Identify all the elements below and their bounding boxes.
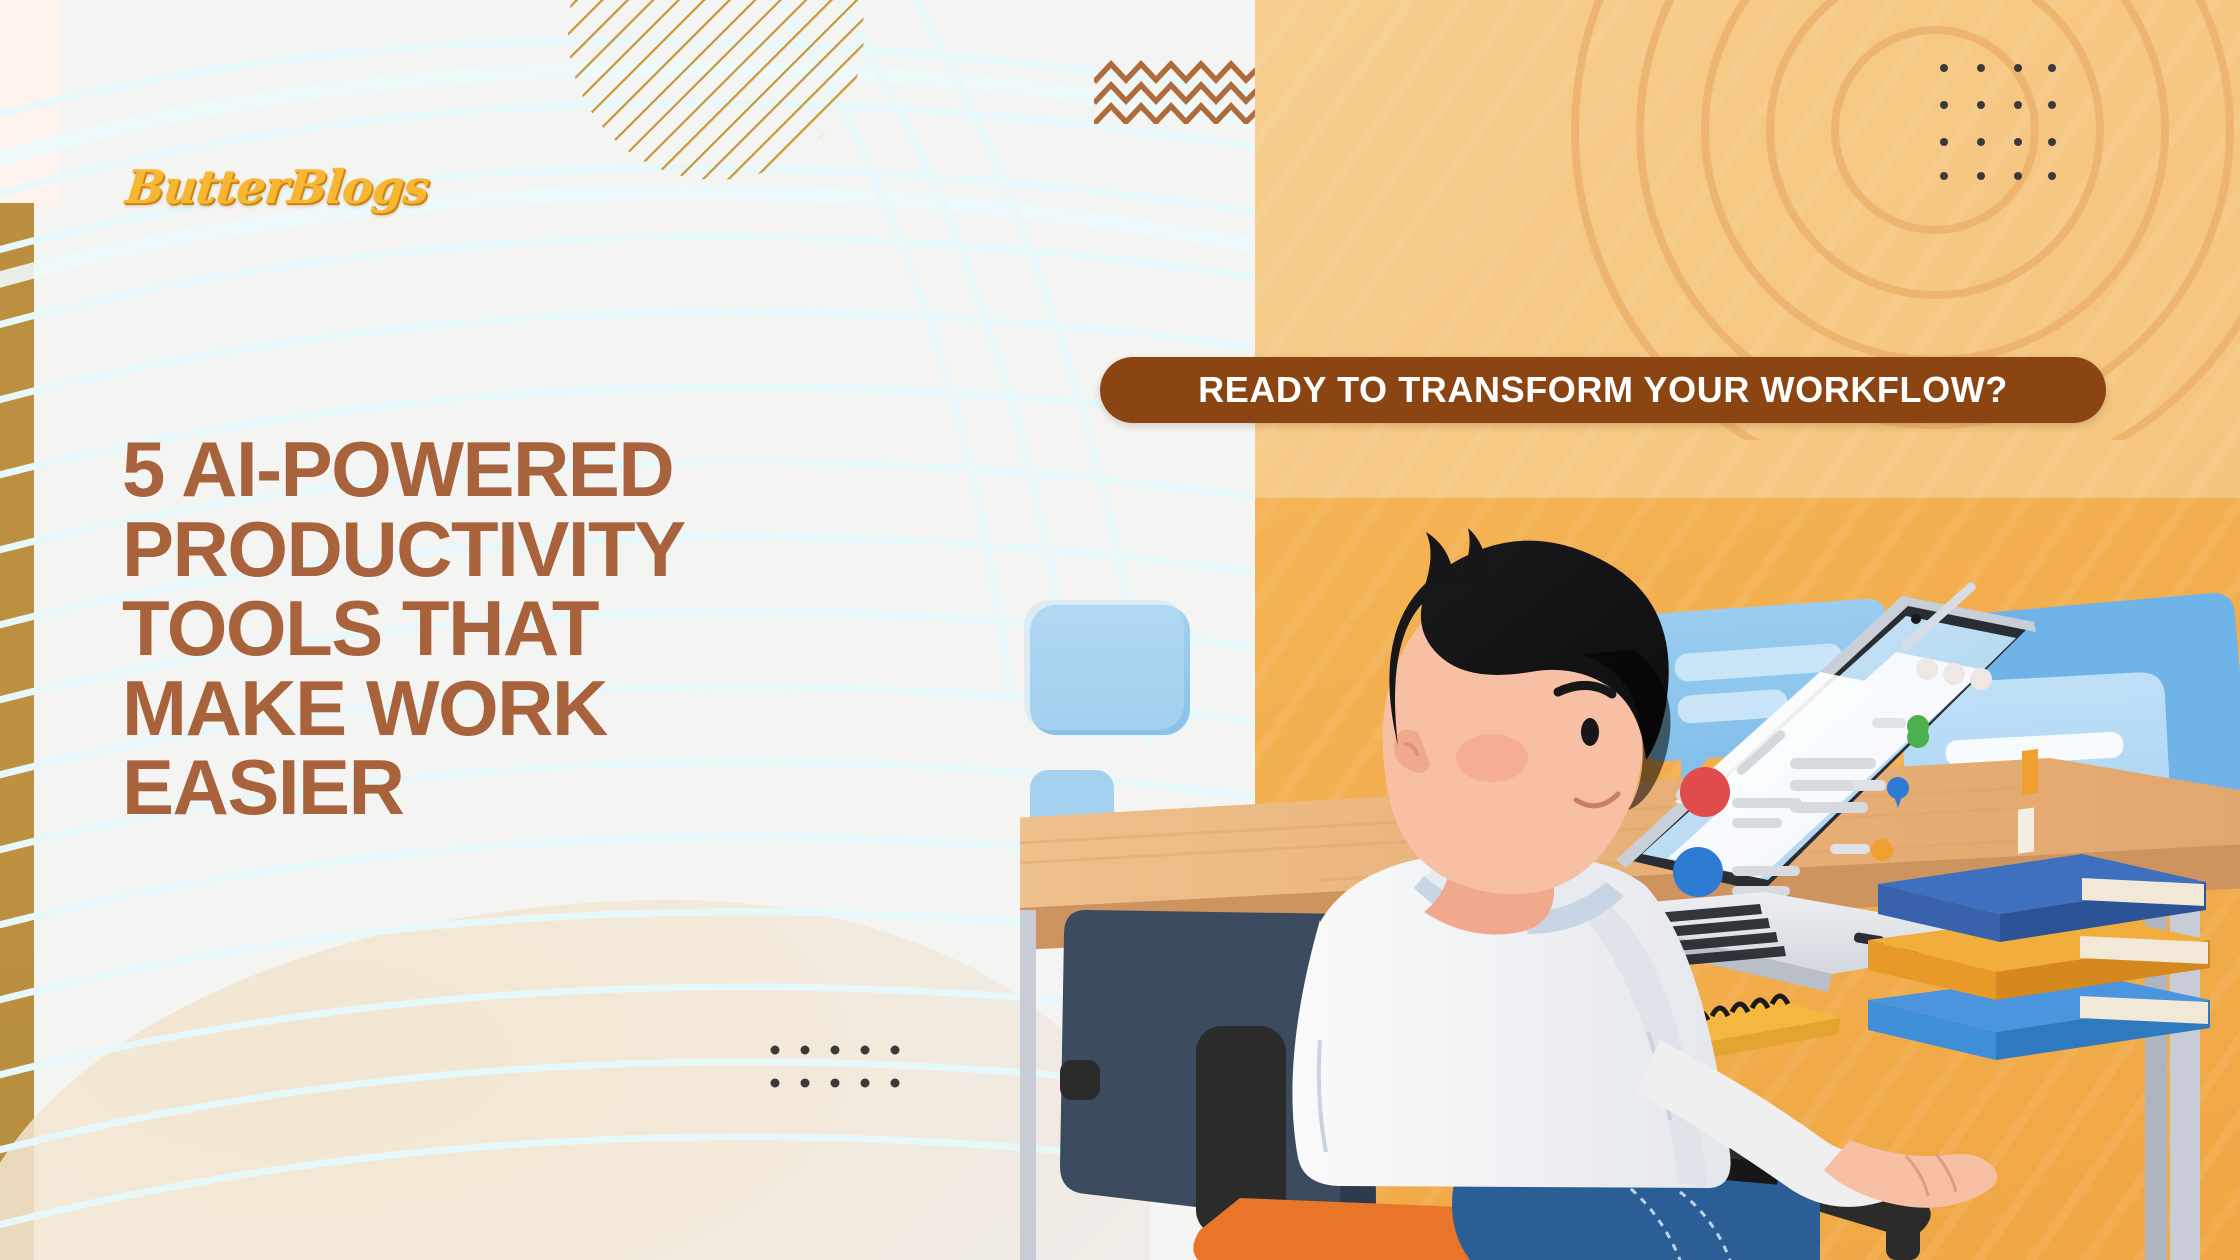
headline-line-5: EASIER — [122, 748, 942, 828]
dot-grid-right-decor — [1936, 60, 2056, 180]
headline-line-1: 5 AI-POWERED — [122, 430, 942, 510]
headline-line-3: TOOLS THAT — [122, 589, 942, 669]
zigzag-lines-icon — [1094, 58, 1255, 124]
desk-scene-illustration — [1020, 440, 2240, 1260]
cta-banner[interactable]: READY TO TRANSFORM YOUR WORKFLOW? — [1100, 357, 2106, 423]
headline-line-2: PRODUCTIVITY — [122, 510, 942, 590]
page-title: 5 AI-POWERED PRODUCTIVITY TOOLS THAT MAK… — [122, 430, 942, 828]
dot-row-left-decor — [770, 1043, 900, 1093]
headline-line-4: MAKE WORK — [122, 669, 942, 749]
brand-logo[interactable]: ButterBlogs — [123, 160, 431, 214]
bubble-left-large — [1024, 600, 1190, 735]
cta-label: READY TO TRANSFORM YOUR WORKFLOW? — [1198, 369, 2008, 411]
hatched-circle-icon — [566, 0, 866, 182]
poster-canvas: ButterBlogs 5 AI-POWERED PRODUCTIVITY TO… — [0, 0, 2240, 1260]
